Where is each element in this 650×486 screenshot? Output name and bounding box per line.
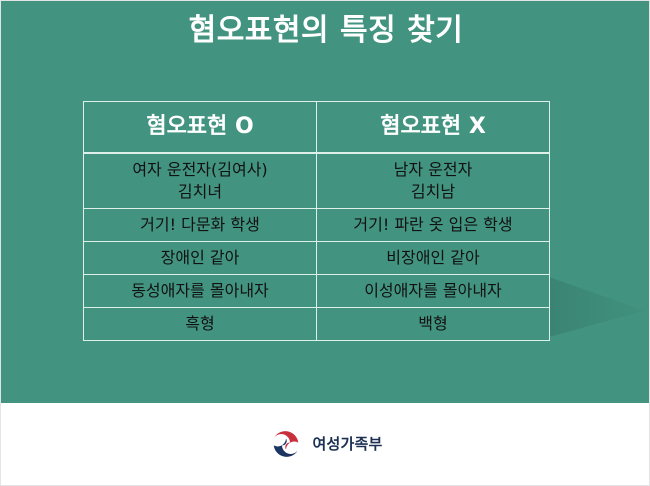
cell-hate-speech-x: 남자 운전자 김치남 <box>317 153 550 209</box>
table-row: 여자 운전자(김여사) 김치녀 남자 운전자 김치남 <box>84 153 550 209</box>
cell-text-line: 남자 운전자 <box>323 159 543 181</box>
cell-text-line: 김치녀 <box>90 181 310 203</box>
cell-text-line: 여자 운전자(김여사) <box>90 159 310 181</box>
table-row: 흑형 백형 <box>84 308 550 341</box>
cell-hate-speech-o: 여자 운전자(김여사) 김치녀 <box>84 153 317 209</box>
cell-hate-speech-x: 거기! 파란 옷 입은 학생 <box>317 209 550 242</box>
cell-hate-speech-o: 장애인 같아 <box>84 242 317 275</box>
table-row: 거기! 다문화 학생 거기! 파란 옷 입은 학생 <box>84 209 550 242</box>
cell-text-line: 김치남 <box>323 181 543 203</box>
decorative-shadow-wedge <box>549 277 645 337</box>
column-header-hate-speech-x: 혐오표현 X <box>317 102 550 154</box>
cell-hate-speech-o: 흑형 <box>84 308 317 341</box>
cell-hate-speech-o: 동성애자를 몰아내자 <box>84 275 317 308</box>
slide-frame: 혐오표현의 특징 찾기 혐오표현 O 혐오표현 X 여자 운전자(김여사) 김치… <box>0 0 650 486</box>
korea-government-taegeuk-icon <box>269 427 303 461</box>
table-header: 혐오표현 O 혐오표현 X <box>84 102 550 154</box>
table-row: 장애인 같아 비장애인 같아 <box>84 242 550 275</box>
slide-stage: 혐오표현의 특징 찾기 혐오표현 O 혐오표현 X 여자 운전자(김여사) 김치… <box>1 1 650 403</box>
table-body: 여자 운전자(김여사) 김치녀 남자 운전자 김치남 거기! 다문화 학생 거기… <box>84 153 550 341</box>
comparison-table: 혐오표현 O 혐오표현 X 여자 운전자(김여사) 김치녀 남자 운전자 김치남 <box>83 101 550 341</box>
page-title: 혐오표현의 특징 찾기 <box>1 11 650 51</box>
footer-bar: 여성가족부 <box>1 403 650 485</box>
cell-hate-speech-x: 백형 <box>317 308 550 341</box>
column-header-hate-speech-o: 혐오표현 O <box>84 102 317 154</box>
cell-hate-speech-o: 거기! 다문화 학생 <box>84 209 317 242</box>
table-row: 동성애자를 몰아내자 이성애자를 몰아내자 <box>84 275 550 308</box>
ministry-name-label: 여성가족부 <box>312 434 382 454</box>
cell-hate-speech-x: 이성애자를 몰아내자 <box>317 275 550 308</box>
table-header-row: 혐오표현 O 혐오표현 X <box>84 102 550 154</box>
cell-hate-speech-x: 비장애인 같아 <box>317 242 550 275</box>
